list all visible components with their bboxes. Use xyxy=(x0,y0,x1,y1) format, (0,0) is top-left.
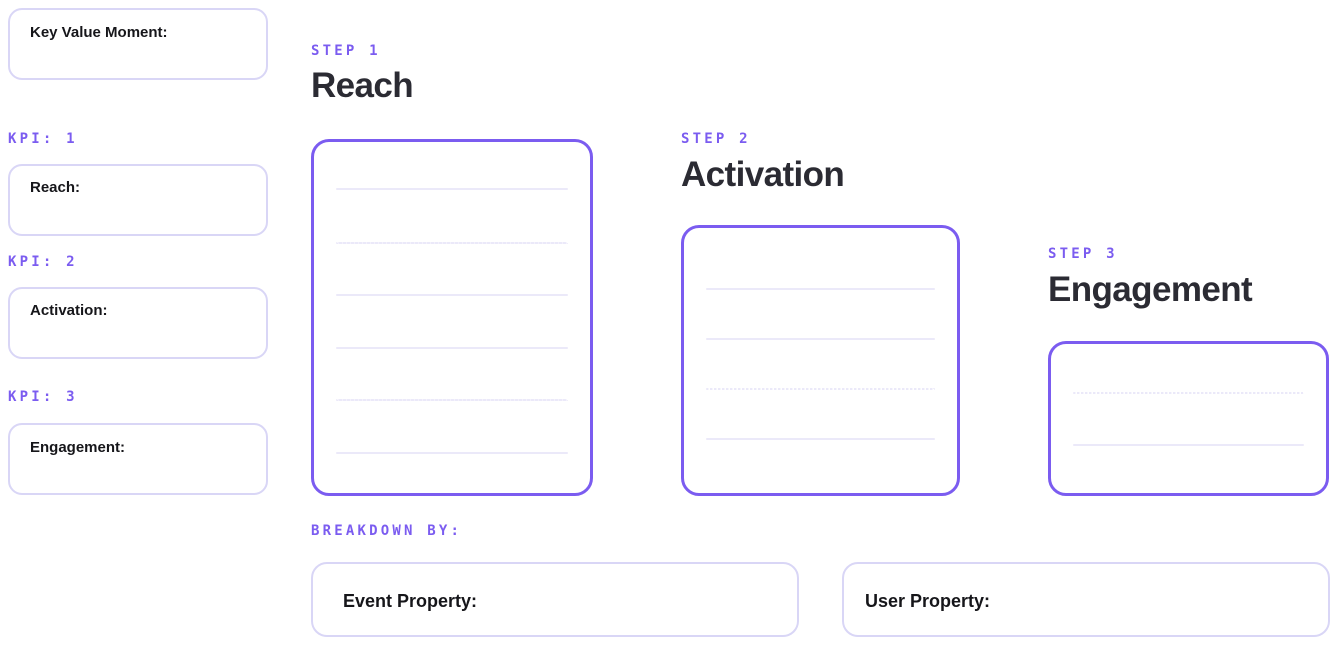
step-1-tag: STEP 1 xyxy=(311,43,381,59)
kpi-1-label: Reach: xyxy=(30,179,80,196)
step-2-rules xyxy=(684,228,957,493)
event-property-label: Event Property: xyxy=(343,591,477,612)
step-3-tag: STEP 3 xyxy=(1048,246,1118,262)
key-value-moment-label: Key Value Moment: xyxy=(30,24,168,41)
worksheet-canvas: Key Value Moment: KPI: 1 Reach: KPI: 2 A… xyxy=(0,0,1337,646)
kpi-2-card[interactable] xyxy=(8,287,268,359)
kpi-2-tag: KPI: 2 xyxy=(8,254,78,270)
user-property-label: User Property: xyxy=(865,591,990,612)
step-2-title: Activation xyxy=(681,155,844,195)
breakdown-by-tag: BREAKDOWN BY: xyxy=(311,523,462,539)
step-3-card[interactable] xyxy=(1048,341,1329,496)
kpi-2-label: Activation: xyxy=(30,302,108,319)
step-1-rules xyxy=(314,142,590,493)
key-value-moment-card[interactable] xyxy=(8,8,268,80)
step-3-rules xyxy=(1051,344,1326,493)
step-2-card[interactable] xyxy=(681,225,960,496)
step-1-card[interactable] xyxy=(311,139,593,496)
step-1-title: Reach xyxy=(311,66,413,106)
kpi-3-label: Engagement: xyxy=(30,439,125,456)
kpi-1-card[interactable] xyxy=(8,164,268,236)
kpi-1-tag: KPI: 1 xyxy=(8,131,78,147)
step-2-tag: STEP 2 xyxy=(681,131,751,147)
step-3-title: Engagement xyxy=(1048,270,1252,310)
kpi-3-card[interactable] xyxy=(8,423,268,495)
kpi-3-tag: KPI: 3 xyxy=(8,389,78,405)
